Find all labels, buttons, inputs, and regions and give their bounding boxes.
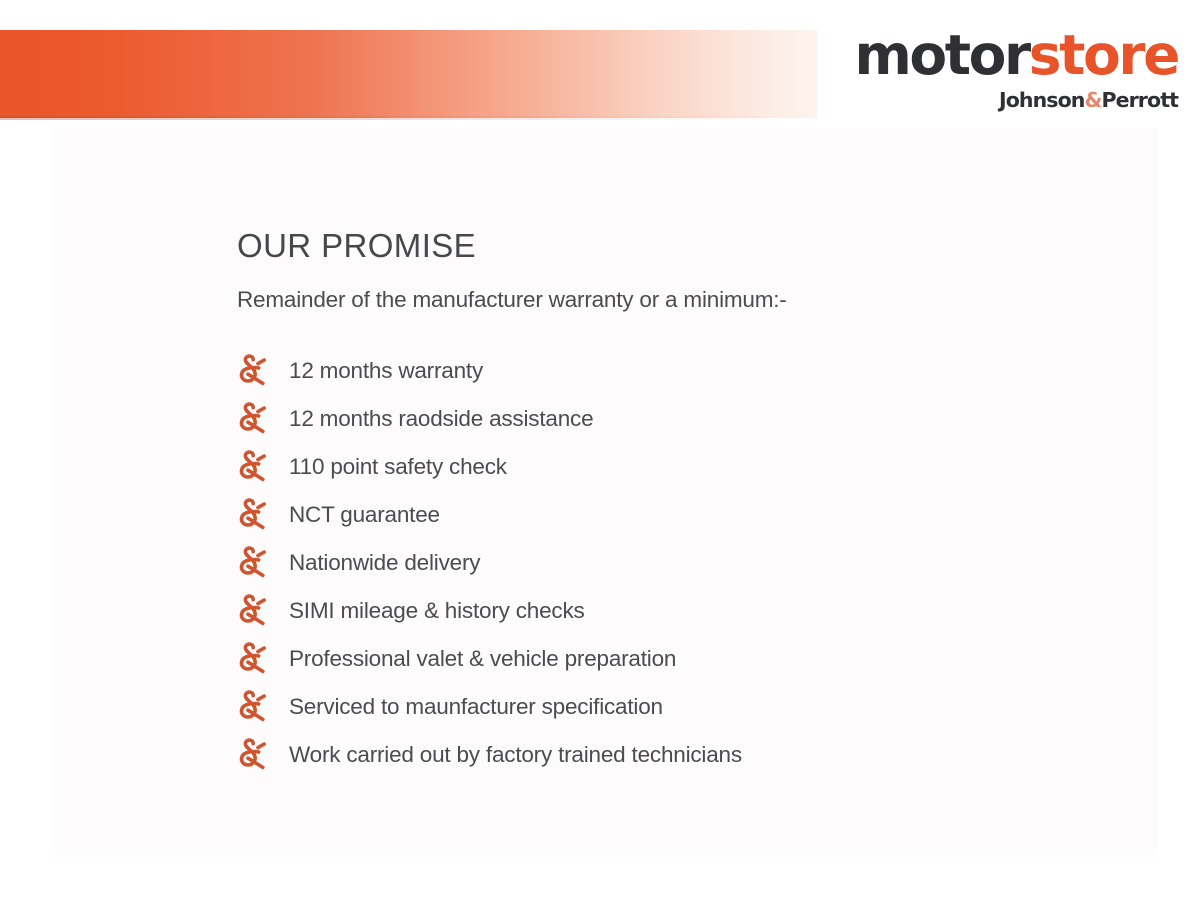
list-item-label: NCT guarantee: [289, 501, 440, 528]
header-gradient-bar: [0, 30, 817, 118]
logo-wordmark: motorstore: [818, 28, 1178, 83]
ampersand-icon: [237, 401, 289, 435]
list-item: Professional valet & vehicle preparation: [237, 634, 1137, 682]
list-item-label: 110 point safety check: [289, 453, 507, 480]
promise-list: 12 months warranty 12 months raodside as…: [237, 346, 1137, 778]
ampersand-icon: [237, 497, 289, 531]
list-item: 12 months raodside assistance: [237, 394, 1137, 442]
header-gradient-bar-shadow: [0, 116, 817, 120]
promise-subtitle: Remainder of the manufacturer warranty o…: [237, 286, 1137, 313]
list-item: Nationwide delivery: [237, 538, 1137, 586]
list-item: 12 months warranty: [237, 346, 1137, 394]
list-item-label: 12 months raodside assistance: [289, 405, 593, 432]
list-item-label: SIMI mileage & history checks: [289, 597, 585, 624]
list-item-label: Nationwide delivery: [289, 549, 480, 576]
ampersand-icon: [237, 353, 289, 387]
list-item: Serviced to maunfacturer specification: [237, 682, 1137, 730]
page-header: motorstore Johnson&Perrott: [0, 0, 1200, 128]
list-item: SIMI mileage & history checks: [237, 586, 1137, 634]
list-item-label: Serviced to maunfacturer specification: [289, 693, 663, 720]
content-panel-bottom-fade: [55, 845, 1157, 863]
list-item: NCT guarantee: [237, 490, 1137, 538]
logo-sub-ampersand-icon: &: [1084, 88, 1101, 112]
logo-word-motor: motor: [854, 23, 1028, 87]
promise-section: OUR PROMISE Remainder of the manufacture…: [237, 228, 1137, 778]
list-item: Work carried out by factory trained tech…: [237, 730, 1137, 778]
list-item: 110 point safety check: [237, 442, 1137, 490]
ampersand-icon: [237, 593, 289, 627]
ampersand-icon: [237, 641, 289, 675]
list-item-label: Professional valet & vehicle preparation: [289, 645, 676, 672]
ampersand-icon: [237, 545, 289, 579]
logo-sub-johnson: Johnson: [999, 88, 1084, 112]
logo-subtitle: Johnson&Perrott: [818, 90, 1178, 111]
ampersand-icon: [237, 689, 289, 723]
logo-sub-perrott: Perrott: [1101, 88, 1178, 112]
motorstore-logo: motorstore Johnson&Perrott: [818, 28, 1178, 111]
logo-word-store: store: [1029, 23, 1178, 87]
ampersand-icon: [237, 737, 289, 771]
ampersand-icon: [237, 449, 289, 483]
page-title: OUR PROMISE: [237, 228, 1137, 264]
list-item-label: Work carried out by factory trained tech…: [289, 741, 742, 768]
list-item-label: 12 months warranty: [289, 357, 483, 384]
